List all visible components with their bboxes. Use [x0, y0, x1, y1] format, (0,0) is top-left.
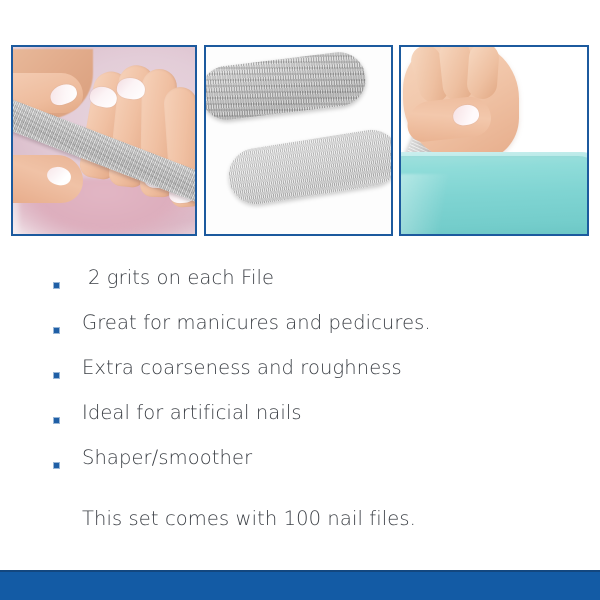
teal-cosmetic-pouch — [399, 156, 589, 236]
gallery-panel-filing-nails[interactable] — [11, 45, 197, 236]
feature-label: 2 grits on each File — [88, 266, 274, 289]
list-item: Shaper/smoother — [0, 442, 600, 487]
feature-label: Ideal for artificial nails — [82, 401, 302, 424]
gallery-panel-pouch[interactable]: ✻ 100/180 ✻ flower — [399, 45, 589, 236]
feature-list: 2 grits on each File Great for manicures… — [0, 262, 600, 487]
list-item: Great for manicures and pedicures. — [0, 307, 600, 352]
list-item: Ideal for artificial nails — [0, 397, 600, 442]
hand-knuckle-3 — [466, 45, 500, 100]
image-gallery: ✻ 100/180 ✻ flower — [0, 45, 600, 236]
square-bullet-icon — [53, 282, 60, 289]
product-feature-page: ✻ 100/180 ✻ flower 2 grits on each File — [0, 0, 600, 600]
feature-label: Great for manicures and pedicures. — [82, 311, 431, 334]
list-item: 2 grits on each File — [0, 262, 600, 307]
feature-label: Extra coarseness and roughness — [82, 356, 402, 379]
square-bullet-icon — [53, 372, 60, 379]
list-item: Extra coarseness and roughness — [0, 352, 600, 397]
footer-bar — [0, 572, 600, 600]
square-bullet-icon — [53, 327, 60, 334]
feature-label: Shaper/smoother — [82, 446, 252, 469]
gallery-panel-two-files[interactable] — [204, 45, 393, 236]
square-bullet-icon — [53, 417, 60, 424]
pouch-highlight — [399, 174, 459, 236]
square-bullet-icon — [53, 462, 60, 469]
closing-note: This set comes with 100 nail files. — [82, 507, 416, 530]
